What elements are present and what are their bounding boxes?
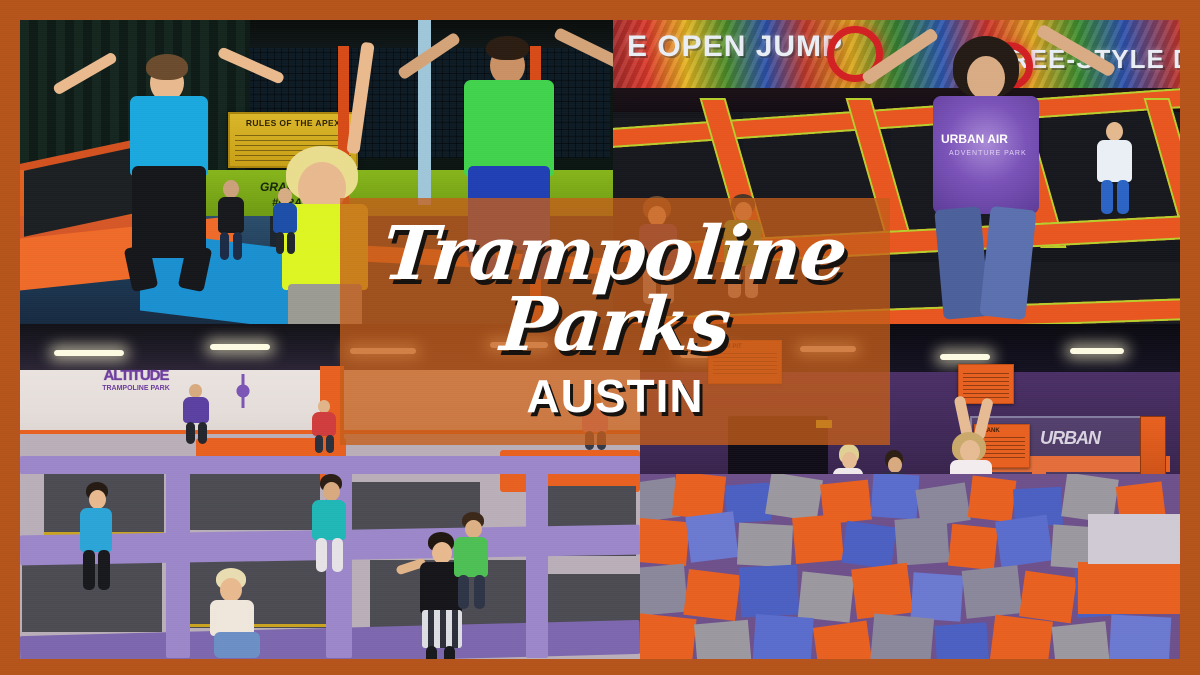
altitude-logo-mark: ALTITUDE [100,368,172,385]
kid-teal-shirt [308,474,352,574]
shirt-text-line1: URBAN AIR [941,132,1008,146]
background-kid-right [1093,120,1137,216]
kid-toddler-sitting [204,568,264,658]
grey-platform-right [1088,514,1180,564]
kid-far-1 [180,384,212,444]
wall-figure-icon [230,374,256,408]
altitude-logo-sub: TRAMPOLINE PARK [102,385,170,392]
neon-text-open-jump: E OPEN JUMP [627,30,843,64]
tie-dye-shirt: URBAN AIR ADVENTURE PARK [933,96,1039,214]
title-card-graphic: RULES OF THE APEX I JUST GOT GRAVITY IS … [0,0,1200,675]
shirt-text-line2: ADVENTURE PARK [949,150,1027,157]
title-line-1: Trampoline [380,220,849,288]
jumper-purple-urban-air: URBAN AIR ADVENTURE PARK [903,30,1073,320]
title-subtitle: AUSTIN [526,369,703,423]
altitude-logo: ALTITUDE TRAMPOLINE PARK [100,364,172,404]
title-line-2: Parks [498,291,732,359]
graffiti-text: URBAN [1040,428,1100,449]
kid-green-shirt [450,512,494,610]
kid-blue-shirt-standing [76,482,116,592]
pad-col-1 [166,458,190,658]
orange-platform-right [1078,562,1180,614]
kid-far-2 [310,400,338,452]
title-overlay-panel: Trampoline Parks AUSTIN [340,198,890,445]
background-kid-2 [270,188,300,254]
background-kid-1 [214,180,248,260]
pad-col-3 [526,458,548,658]
